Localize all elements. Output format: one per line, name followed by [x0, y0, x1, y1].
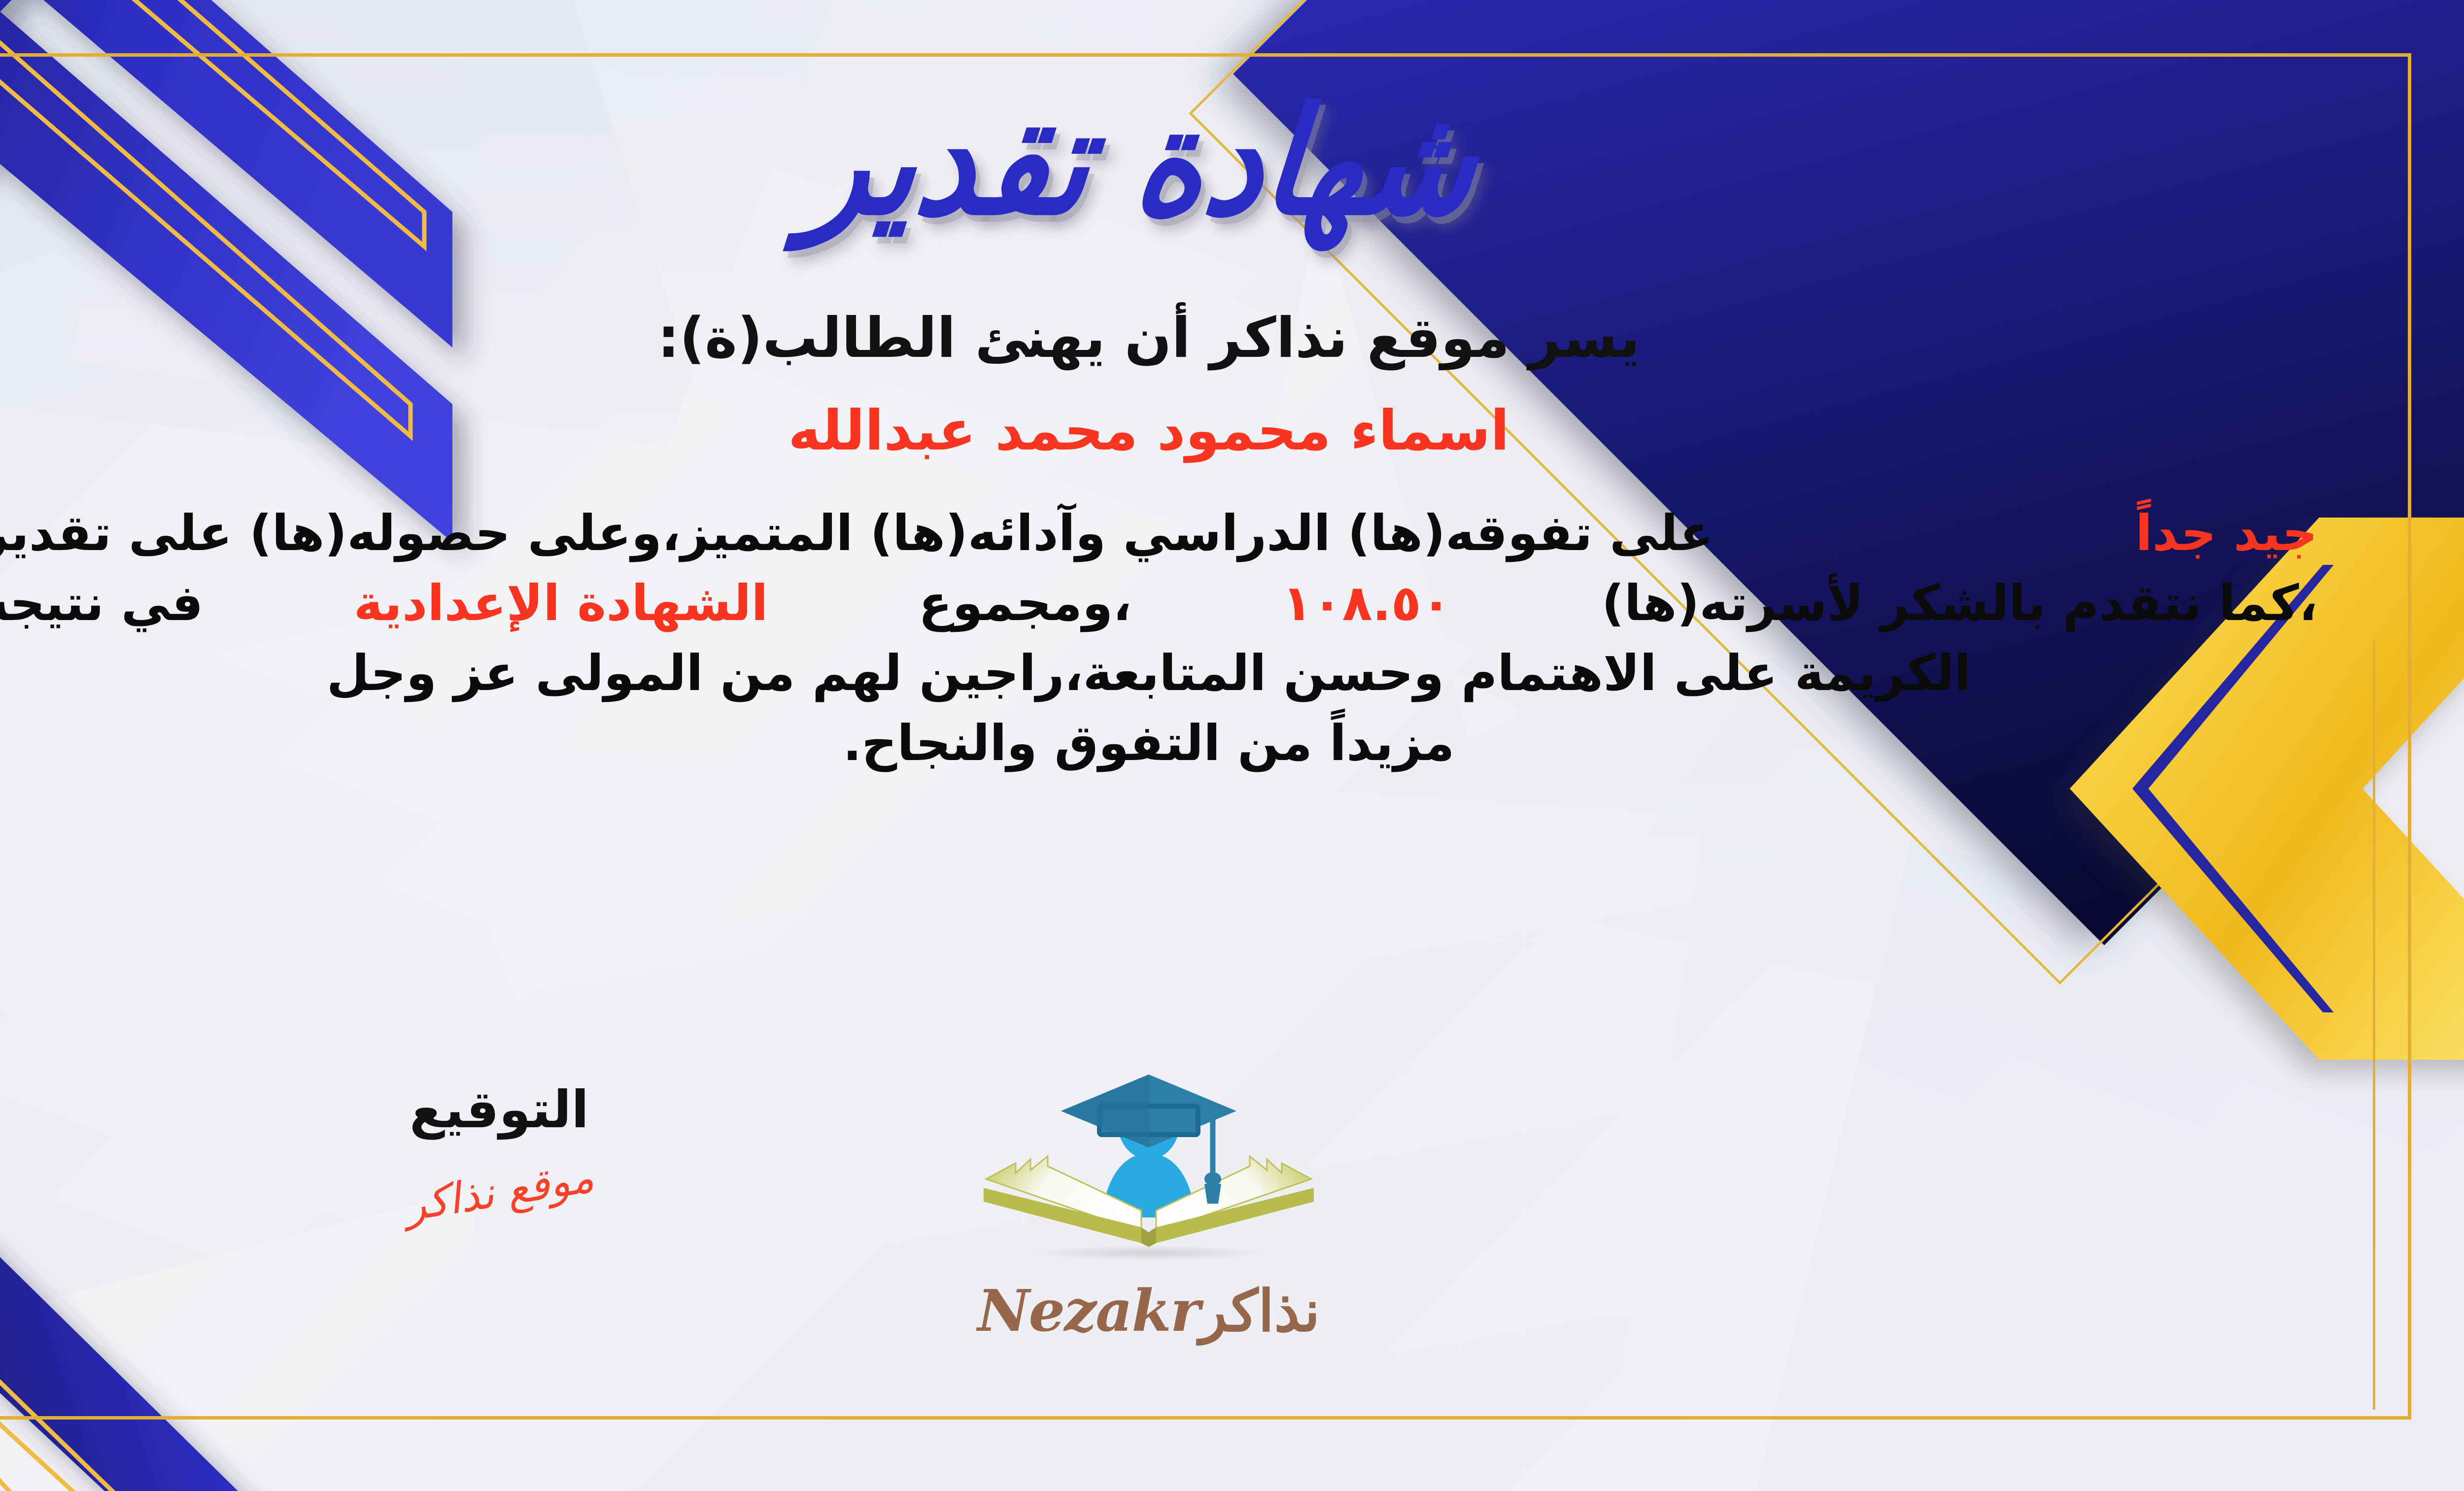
body-line-3: الكريمة على الاهتمام وحسن المتابعة،راجين…	[0, 638, 2318, 708]
page-title: شهادة تقدير	[0, 85, 2337, 240]
body-line-1-text: على تفوقه(ها) الدراسي وآدائه(ها) المتميز…	[0, 498, 1713, 568]
total-label: ،ومجموع	[919, 568, 1131, 638]
signature-block: التوقيع موقع نذاكر	[342, 1079, 657, 1216]
graduate-book-logo-icon	[957, 1070, 1341, 1282]
logo-wordmark-latin: Nezakr	[978, 1278, 1199, 1345]
body-line-1: جيد جداً على تفوقه(ها) الدراسي وآدائه(ها…	[0, 498, 2318, 568]
signature-label: التوقيع	[342, 1079, 657, 1140]
certificate-footer: التوقيع موقع نذاكر	[0, 1070, 2411, 1385]
grade-value: جيد جداً	[2135, 498, 2318, 568]
tassel-fringe	[1204, 1184, 1221, 1204]
logo-wordmark: نذاكرNezakr	[957, 1278, 1341, 1345]
exam-name: الشهادة الإعدادية	[354, 568, 768, 638]
total-score-value: ١٠٨.٥٠	[1282, 568, 1451, 638]
tassel-knot	[1204, 1172, 1221, 1186]
body-line-4: مزيداً من التفوق والنجاح.	[0, 708, 2318, 778]
logo-wordmark-arabic: نذاكر	[1199, 1278, 1320, 1345]
intro-line: يسر موقع نذاكر أن يهنئ الطالب(ة):	[0, 306, 2337, 370]
book-spine	[1141, 1227, 1156, 1247]
logo-shadow	[1026, 1245, 1272, 1261]
body-paragraph: جيد جداً على تفوقه(ها) الدراسي وآدائه(ها…	[0, 498, 2337, 778]
body-line-2-tail: ،كما نتقدم بالشكر لأسرته(ها)	[1602, 568, 2318, 638]
certificate: شهادة تقدير يسر موقع نذاكر أن يهنئ الطال…	[0, 0, 2464, 1491]
body-line-2: ،كما نتقدم بالشكر لأسرته(ها) ١٠٨.٥٠ ،ومج…	[0, 568, 2318, 638]
signature-mark: موقع نذاكر	[402, 1152, 597, 1231]
brand-logo: نذاكرNezakr	[957, 1070, 1341, 1345]
certificate-content: شهادة تقدير يسر موقع نذاكر أن يهنئ الطال…	[0, 53, 2411, 1420]
student-name: اسماء محمود محمد عبدالله	[0, 399, 2337, 463]
body-line-2-head: في نتيجة	[0, 568, 203, 638]
